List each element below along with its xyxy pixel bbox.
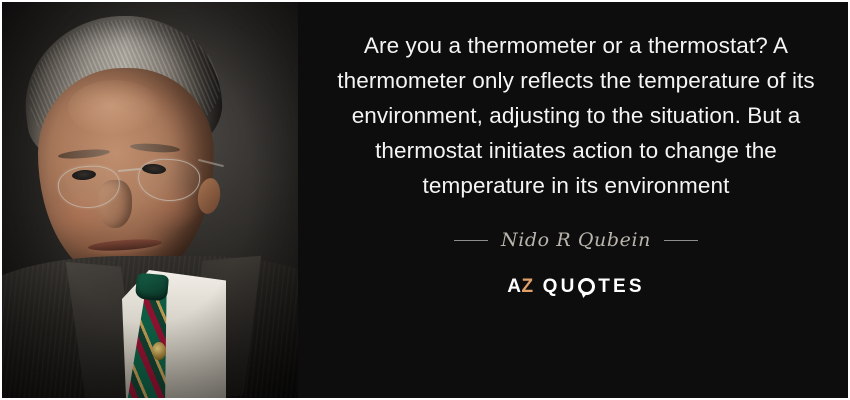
author-name: Nido R Qubein — [501, 229, 651, 251]
author-portrait-photo — [2, 2, 298, 398]
quote-text: Are you a thermometer or a thermostat? A… — [316, 28, 836, 203]
speech-bubble-icon — [578, 278, 595, 295]
eyeglass-bridge — [118, 168, 140, 172]
tie-pin — [152, 342, 166, 360]
quote-panel: Are you a thermometer or a thermostat? A… — [298, 2, 850, 398]
eyeglass-lens-right — [137, 157, 201, 202]
logo-letter-a: A — [507, 277, 521, 296]
quote-card: Are you a thermometer or a thermostat? A… — [0, 0, 850, 400]
attribution: Nido R Qubein — [454, 229, 698, 251]
azquotes-logo[interactable]: A Z QU TES — [507, 275, 645, 297]
logo-word-qu: QU — [543, 277, 578, 296]
attribution-rule-right — [664, 240, 698, 241]
eyeglasses — [42, 152, 222, 200]
necktie-knot — [135, 273, 169, 302]
eyeglass-temple-arm — [198, 159, 224, 167]
attribution-rule-left — [454, 240, 488, 241]
logo-word-tes: TES — [598, 277, 645, 296]
logo-letter-z: Z — [521, 277, 533, 296]
forehead-highlight — [68, 80, 162, 136]
